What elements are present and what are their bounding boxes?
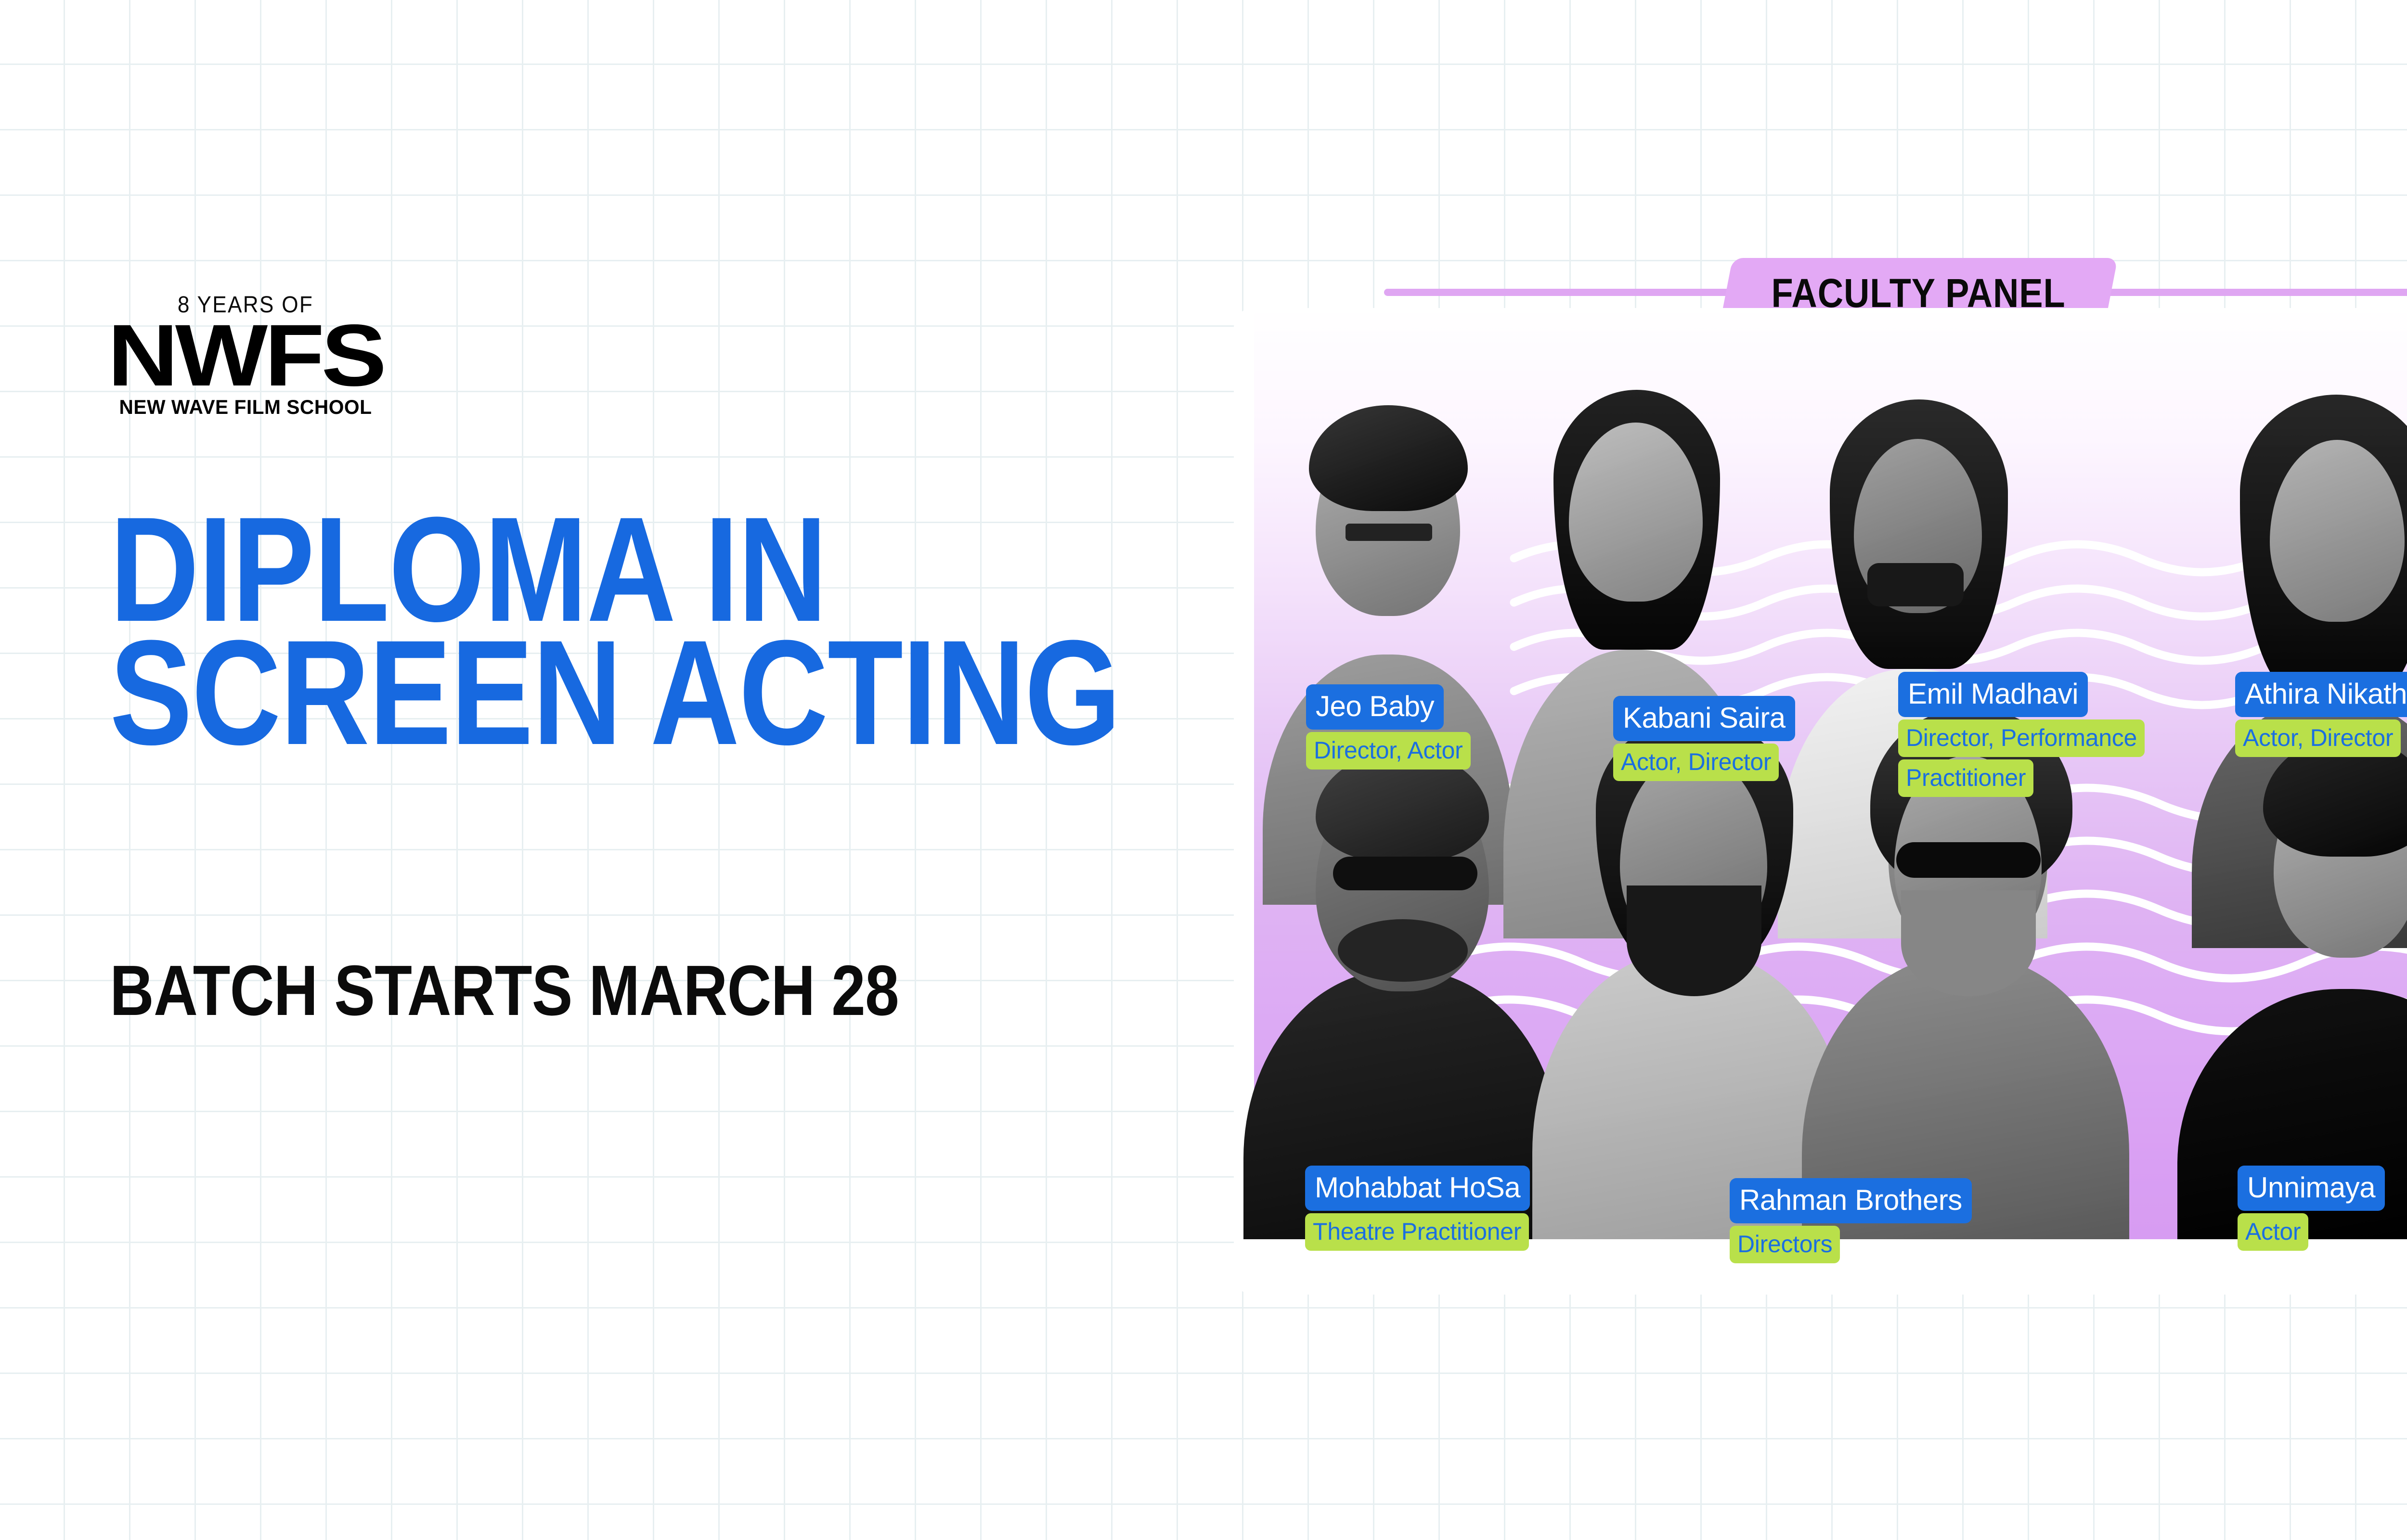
faculty-role: Directors [1730, 1226, 1840, 1263]
page-title: DIPLOMA IN SCREEN ACTING [110, 508, 1188, 754]
faculty-name: Mohabbat HoSa [1305, 1166, 1530, 1211]
logo-monogram: NWFS [84, 320, 407, 391]
faculty-name: Athira Nikathil [2235, 672, 2407, 717]
logo-school-name: NEW WAVE FILM SCHOOL [105, 397, 386, 417]
nameplate-emil-madhavi: Emil Madhavi Director, Performance Pract… [1898, 672, 2145, 797]
faculty-role-line-2: Practitioner [1898, 759, 2033, 797]
faculty-role: Actor, Director [1613, 744, 1779, 781]
faculty-name: Jeo Baby [1306, 684, 1444, 730]
nameplate-kabani-saira: Kabani Saira Actor, Director [1613, 696, 1795, 781]
batch-start-date: BATCH STARTS MARCH 28 [110, 955, 899, 1027]
poster-canvas: 8 YEARS OF NWFS NEW WAVE FILM SCHOOL DIP… [0, 0, 2407, 1540]
faculty-name: Emil Madhavi [1898, 672, 2088, 717]
faculty-role: Director, Actor [1306, 732, 1471, 770]
faculty-role-line-1: Director, Performance [1898, 719, 2145, 757]
faculty-name: Kabani Saira [1613, 696, 1795, 741]
nwfs-logo: 8 YEARS OF NWFS NEW WAVE FILM SCHOOL [101, 294, 390, 417]
nameplate-jeo-baby: Jeo Baby Director, Actor [1306, 684, 1471, 770]
faculty-name: Rahman Brothers [1730, 1178, 1972, 1223]
headline-line-2: SCREEN ACTING [110, 631, 1005, 754]
faculty-role: Theatre Practitioner [1305, 1213, 1529, 1251]
portrait-mohabbat-hosa [1243, 712, 1561, 1239]
nameplate-rahman-brothers: Rahman Brothers Directors [1730, 1178, 1972, 1263]
left-content-column: 8 YEARS OF NWFS NEW WAVE FILM SCHOOL DIP… [0, 0, 1203, 1540]
faculty-role: Actor, Director [2235, 719, 2401, 757]
faculty-panel-card: Jeo Baby Director, Actor Kabani Saira Ac… [1234, 308, 2407, 1295]
portrait-unnimaya [2177, 688, 2407, 1239]
nameplate-mohabbat-hosa: Mohabbat HoSa Theatre Practitioner [1305, 1166, 1530, 1251]
nameplate-athira-nikathil: Athira Nikathil Actor, Director [2235, 672, 2407, 757]
faculty-role: Actor [2238, 1213, 2308, 1251]
nameplate-unnimaya: Unnimaya Actor [2238, 1166, 2385, 1251]
faculty-name: Unnimaya [2238, 1166, 2385, 1211]
